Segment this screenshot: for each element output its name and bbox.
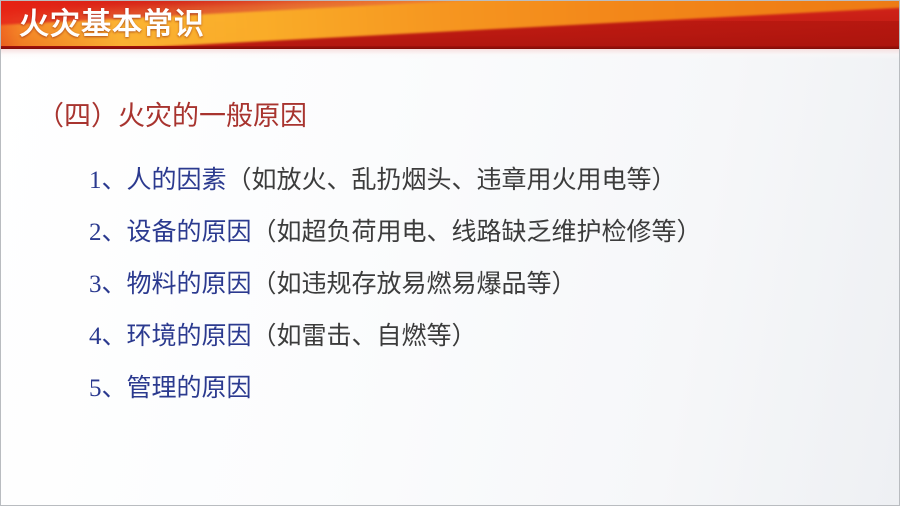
list-item: 5、管理的原因: [89, 363, 889, 415]
list-item-term: 4、环境的原因: [89, 323, 252, 350]
list-item-term: 3、物料的原因: [89, 271, 252, 298]
header-banner: 火灾基本常识: [1, 1, 900, 49]
cause-list: 1、人的因素（如放火、乱扔烟头、违章用火用电等） 2、设备的原因（如超负荷用电、…: [89, 155, 889, 415]
list-item-note: （如放火、乱扔烟头、违章用火用电等）: [227, 167, 677, 194]
list-item: 4、环境的原因（如雷击、自燃等）: [89, 311, 889, 363]
section-heading: （四）火灾的一般原因: [37, 99, 307, 133]
list-item-note: （如雷击、自燃等）: [252, 323, 477, 350]
list-item: 3、物料的原因（如违规存放易燃易爆品等）: [89, 259, 889, 311]
slide: 火灾基本常识 （四）火灾的一般原因 1、人的因素（如放火、乱扔烟头、违章用火用电…: [0, 0, 900, 506]
list-item-term: 5、管理的原因: [89, 375, 252, 402]
page-title: 火灾基本常识: [19, 3, 205, 47]
list-item-term: 1、人的因素: [89, 167, 227, 194]
list-item-term: 2、设备的原因: [89, 219, 252, 246]
banner-fade-strip: [1, 49, 900, 59]
list-item-note: （如超负荷用电、线路缺乏维护检修等）: [252, 219, 702, 246]
list-item: 2、设备的原因（如超负荷用电、线路缺乏维护检修等）: [89, 207, 889, 259]
list-item: 1、人的因素（如放火、乱扔烟头、违章用火用电等）: [89, 155, 889, 207]
list-item-note: （如违规存放易燃易爆品等）: [252, 271, 577, 298]
